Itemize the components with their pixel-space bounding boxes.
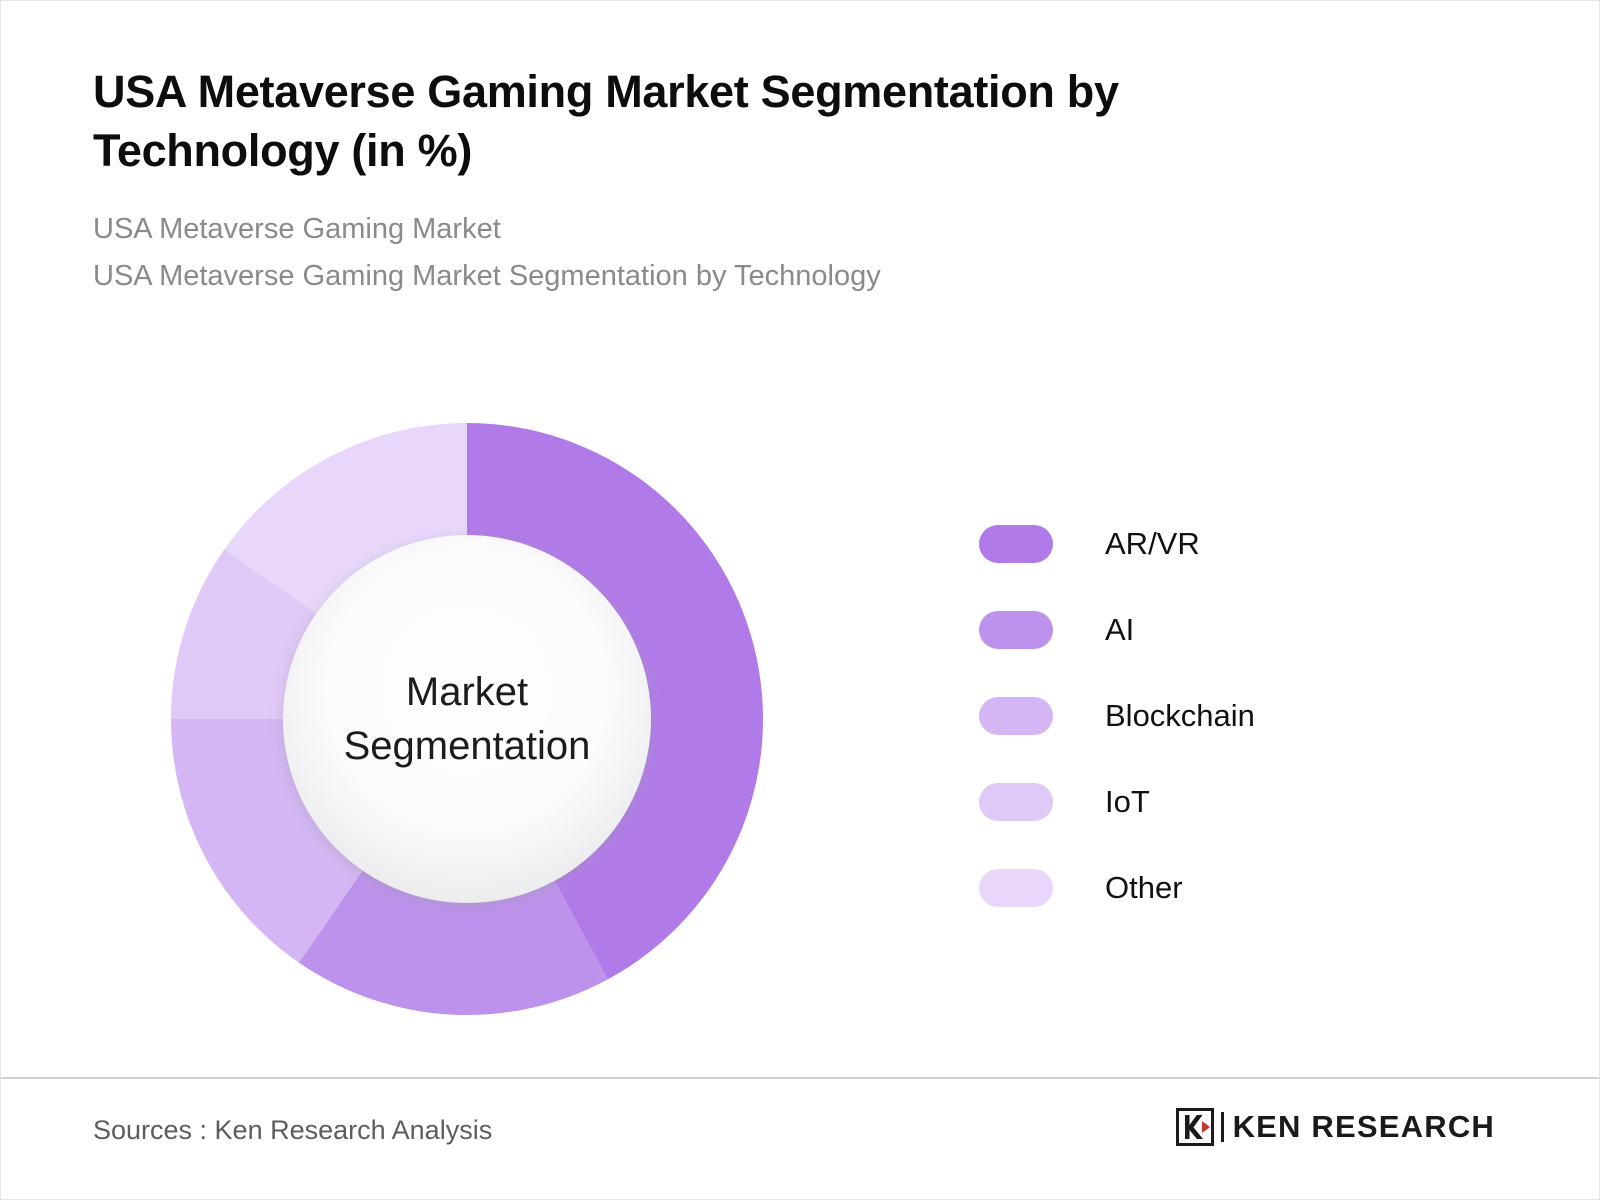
donut-svg xyxy=(171,421,763,1017)
chart-body: Market Segmentation AR/VRAIBlockchainIoT… xyxy=(1,361,1600,1061)
logo-divider xyxy=(1221,1112,1224,1142)
donut-chart: Market Segmentation xyxy=(171,421,763,1017)
legend-swatch-icon xyxy=(979,525,1053,563)
subtitle-block: USA Metaverse Gaming Market USA Metavers… xyxy=(93,206,1343,300)
legend-item-iot[interactable]: IoT xyxy=(979,759,1449,845)
donut-center-hole xyxy=(283,535,651,903)
chart-footer: Sources : Ken Research Analysis KEN RESE… xyxy=(1,1079,1600,1200)
logo-text: KEN RESEARCH xyxy=(1233,1109,1495,1145)
legend-swatch-icon xyxy=(979,783,1053,821)
legend-swatch-icon xyxy=(979,869,1053,907)
chart-header: USA Metaverse Gaming Market Segmentation… xyxy=(93,63,1343,300)
legend-item-other[interactable]: Other xyxy=(979,845,1449,931)
legend-item-ar-vr[interactable]: AR/VR xyxy=(979,501,1449,587)
page-title: USA Metaverse Gaming Market Segmentation… xyxy=(93,63,1283,180)
legend-item-label: IoT xyxy=(1105,784,1150,820)
legend-item-label: Blockchain xyxy=(1105,698,1255,734)
logo-k-mark-icon xyxy=(1176,1108,1214,1146)
chart-page: USA Metaverse Gaming Market Segmentation… xyxy=(0,0,1600,1200)
legend-item-blockchain[interactable]: Blockchain xyxy=(979,673,1449,759)
subtitle-line-2: USA Metaverse Gaming Market Segmentation… xyxy=(93,253,1343,300)
legend-item-label: AI xyxy=(1105,612,1134,648)
legend-swatch-icon xyxy=(979,697,1053,735)
legend-item-label: AR/VR xyxy=(1105,526,1200,562)
sources-text: Sources : Ken Research Analysis xyxy=(93,1115,492,1146)
legend-item-ai[interactable]: AI xyxy=(979,587,1449,673)
legend-swatch-icon xyxy=(979,611,1053,649)
subtitle-line-1: USA Metaverse Gaming Market xyxy=(93,206,1343,253)
ken-research-logo: KEN RESEARCH xyxy=(1176,1105,1495,1149)
chart-legend: AR/VRAIBlockchainIoTOther xyxy=(979,501,1449,931)
legend-item-label: Other xyxy=(1105,870,1183,906)
